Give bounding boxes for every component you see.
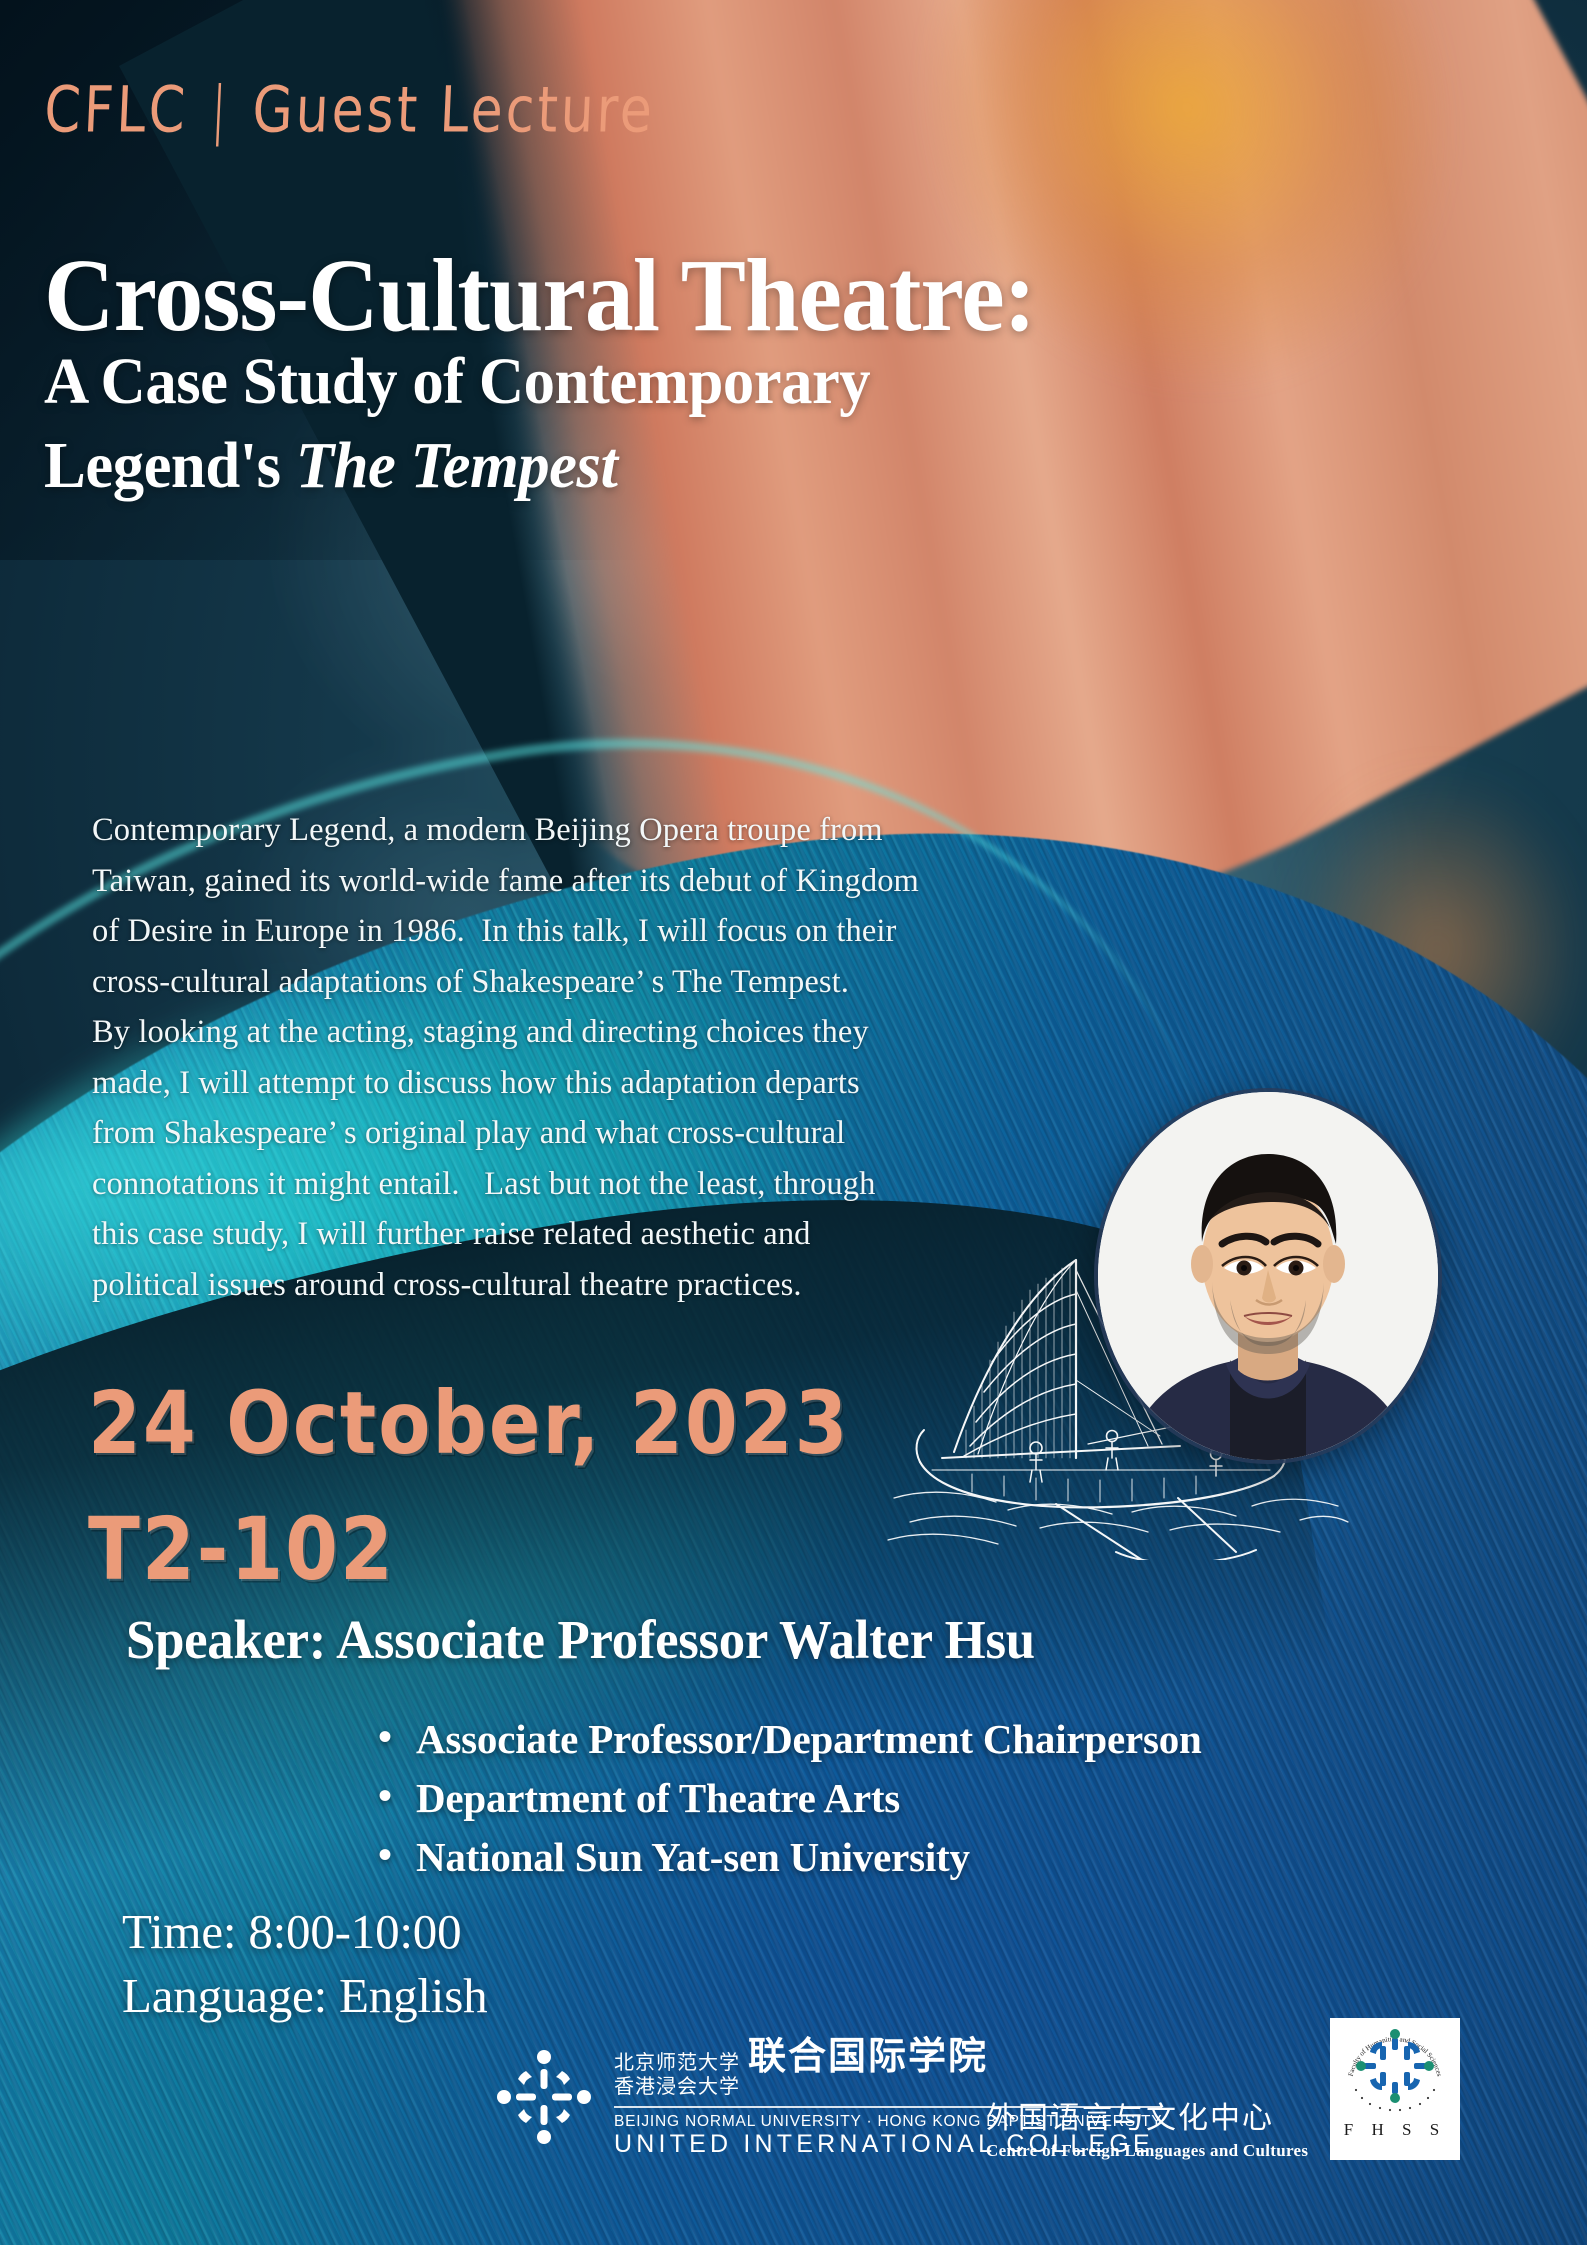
- uic-chinese-line-1: 北京师范大学: [614, 2051, 740, 2075]
- abstract-line: made, I will attempt to discuss how this…: [92, 1058, 1102, 1109]
- page-title: Cross-Cultural Theatre:: [44, 236, 1035, 355]
- abstract-line: cross-cultural adaptations of Shakespear…: [92, 957, 1102, 1008]
- abstract-line: By looking at the acting, staging and di…: [92, 1007, 1102, 1058]
- abstract-line: Taiwan, gained its world-wide fame after…: [92, 856, 1102, 907]
- list-item: Associate Professor/Department Chairpers…: [378, 1710, 1202, 1769]
- list-item: National Sun Yat-sen University: [378, 1828, 1202, 1887]
- cflc-logo: 外国语言与文化中心 Centre of Foreign Languages an…: [986, 2101, 1308, 2161]
- speaker-portrait: [1098, 1092, 1438, 1460]
- subtitle-line-1: A Case Study of Contemporary: [44, 340, 975, 424]
- abstract-line: from Shakespeare’ s original play and wh…: [92, 1108, 1102, 1159]
- kicker-type: Guest Lecture: [251, 74, 657, 147]
- uic-chinese-name: 北京师范大学 香港浸会大学 联合国际学院: [614, 2037, 1162, 2098]
- subtitle-line-2: Legend's The Tempest: [44, 424, 975, 508]
- page-subtitle: A Case Study of Contemporary Legend's Th…: [44, 340, 975, 508]
- uic-chinese-stack: 北京师范大学 香港浸会大学: [614, 2051, 740, 2098]
- uic-emblem-icon: [496, 2049, 592, 2145]
- abstract-line: connotations it might entail. Last but n…: [92, 1159, 1102, 1210]
- kicker-line: CFLC|Guest Lecture: [43, 74, 657, 147]
- abstract-line: of Desire in Europe in 1986. In this tal…: [92, 906, 1102, 957]
- event-time: Time: 8:00-10:00: [122, 1900, 487, 1964]
- fhss-abbreviation: F H S S: [1344, 2120, 1446, 2140]
- uic-chinese-big: 联合国际学院: [748, 2037, 988, 2075]
- kicker-org: CFLC: [43, 74, 190, 147]
- footer-logos: 北京师范大学 香港浸会大学 联合国际学院 BEIJING NORMAL UNIV…: [0, 2005, 1587, 2245]
- cflc-chinese-name: 外国语言与文化中心: [986, 2101, 1308, 2137]
- kicker-separator: |: [186, 74, 254, 147]
- lecture-poster: CFLC|Guest Lecture Cross-Cultural Theatr…: [0, 0, 1587, 2245]
- list-item: Department of Theatre Arts: [378, 1769, 1202, 1828]
- speaker-credentials-list: Associate Professor/Department Chairpers…: [378, 1710, 1202, 1887]
- speaker-name: Speaker: Associate Professor Walter Hsu: [126, 1608, 1035, 1671]
- uic-chinese-line-2: 香港浸会大学: [614, 2075, 740, 2099]
- portrait-figure: [1098, 1092, 1438, 1460]
- cflc-english-name: Centre of Foreign Languages and Cultures: [986, 2141, 1308, 2161]
- abstract-line: Contemporary Legend, a modern Beijing Op…: [92, 805, 1102, 856]
- event-venue: T2-102: [88, 1498, 395, 1599]
- event-date: 24 October, 2023: [88, 1372, 850, 1473]
- subtitle-play-title: The Tempest: [296, 429, 618, 502]
- fhss-logo: Faculty of Humanities and Social Science…: [1330, 2018, 1460, 2160]
- subtitle-line-2-prefix: Legend's: [44, 429, 296, 502]
- fhss-emblem-icon: Faculty of Humanities and Social Science…: [1340, 2024, 1450, 2116]
